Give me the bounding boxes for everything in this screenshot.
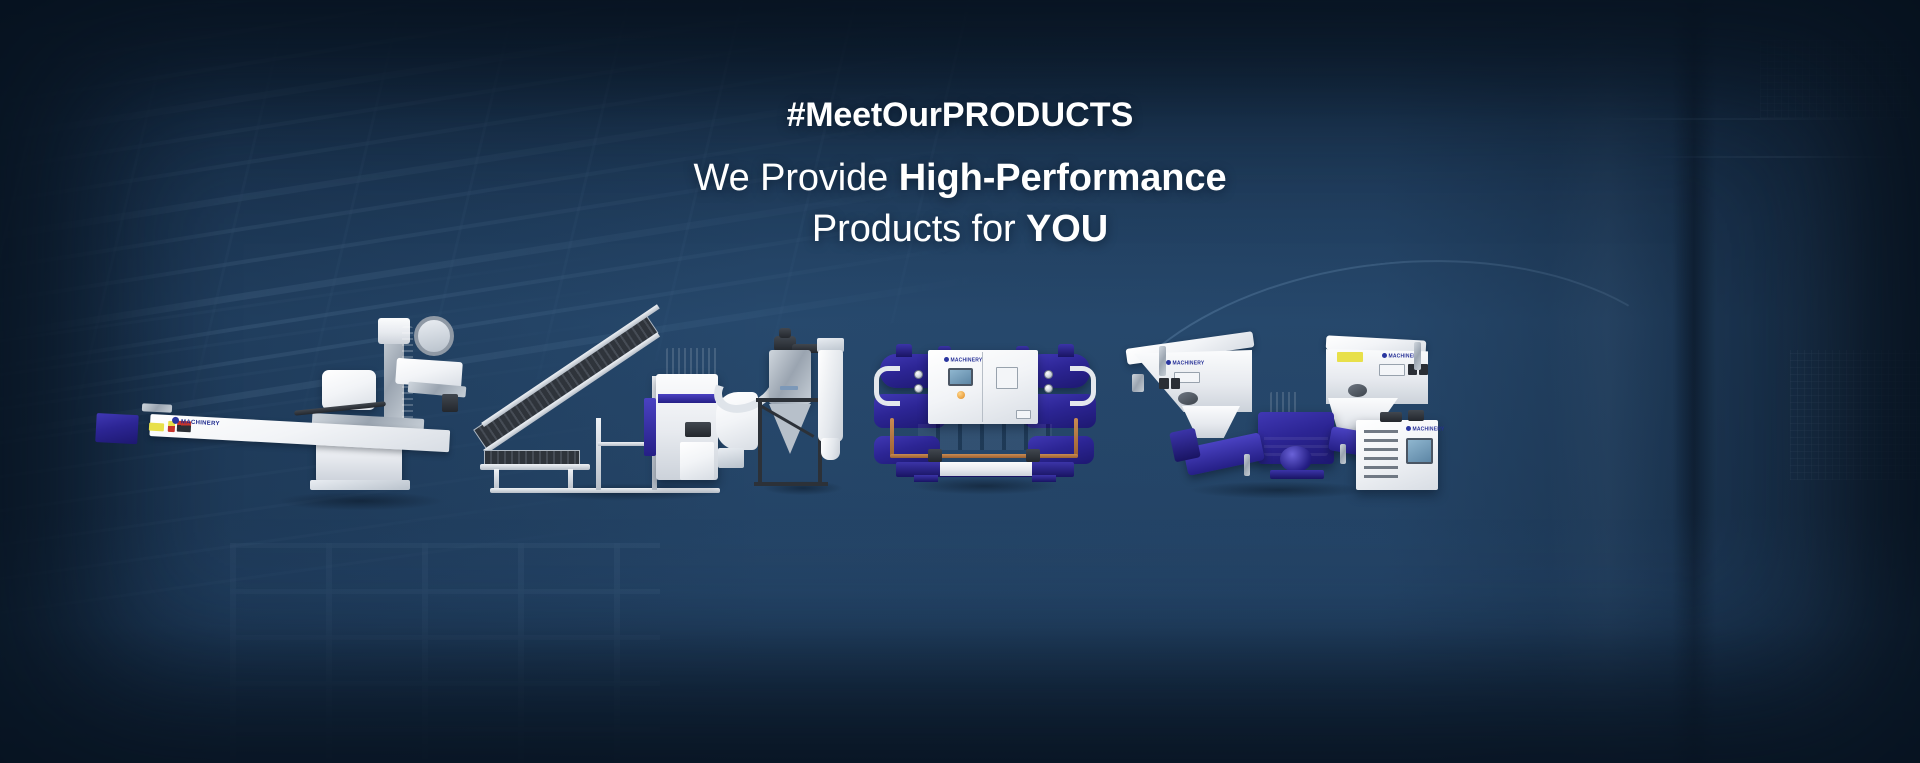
hopper-right-spec-plate <box>1379 364 1405 376</box>
chiller-flange-left <box>928 449 942 462</box>
hopper-left-brand-logo-text: MACHINERY <box>1173 361 1205 367</box>
robot-warning-label-yellow <box>149 423 164 432</box>
conveyor-support-post-1 <box>596 418 601 490</box>
brand-mark-icon <box>1166 360 1171 365</box>
cabinet-brand-logo-text: MACHINERY <box>1413 427 1445 433</box>
conveyor-incline-belt <box>473 314 658 449</box>
conveyor-base-rail <box>490 488 720 493</box>
robot-beam-end-cap <box>95 413 139 444</box>
filter-bag <box>818 350 843 442</box>
subheading-line-2-bold: YOU <box>1026 208 1108 250</box>
chiller-drip-tray <box>940 462 1032 476</box>
hopper-left-badge-1 <box>1159 378 1169 389</box>
robot-gripper <box>442 394 458 412</box>
hopper-left-bracket <box>1132 374 1144 392</box>
chiller-spec-plate <box>996 367 1018 389</box>
chiller-serial-plate <box>1016 410 1031 419</box>
subheading-line-2: Products for YOU <box>0 207 1920 252</box>
hopper-left-clamp <box>1159 346 1166 376</box>
pressure-gauge-left-1 <box>914 370 923 379</box>
pressure-gauge-right-1 <box>1044 370 1053 379</box>
crusher-blue-accent-panel <box>658 394 716 403</box>
crusher-control-display <box>685 422 711 437</box>
product-gravimetric-blender[interactable]: MACHINERY MACHINERY <box>1124 336 1444 494</box>
brand-mark-icon <box>1382 353 1387 358</box>
brand-mark-icon <box>172 417 179 424</box>
subheading-line-2-light: Products for <box>812 208 1026 250</box>
chiller-brand-logo: MACHINERY <box>944 357 982 364</box>
hopper-right-inspection-port <box>1348 384 1367 397</box>
chiller-compressor-cap-right <box>1058 344 1074 357</box>
filter-bag-bottom <box>821 438 840 460</box>
cabinet-ventilation-louvers <box>1364 430 1398 480</box>
blender-mixer-motor-dome <box>1280 446 1312 472</box>
cabinet-top-handle[interactable] <box>1380 412 1402 422</box>
crusher-blue-accent-left <box>644 398 656 456</box>
conveyor-incline-frame-lower <box>483 332 660 454</box>
cyclone-frame-leg-left <box>758 398 762 486</box>
conveyor-tail-belt <box>484 450 580 465</box>
chiller-hmi-touchscreen[interactable] <box>948 368 973 386</box>
cabinet-top-handle-2[interactable] <box>1408 410 1424 421</box>
page-subheading: We Provide High-Performance Products for… <box>0 156 1920 252</box>
hopper-right-clamp <box>1414 342 1421 370</box>
blender-hmi-touchscreen[interactable] <box>1406 438 1433 464</box>
copper-pipe-right-vertical <box>1074 418 1078 458</box>
chiller-indicator-light <box>957 391 965 399</box>
chiller-foot-right <box>1032 475 1056 482</box>
product-shadow <box>246 488 476 514</box>
copper-pipe-center <box>936 454 1032 458</box>
hero-copy: #MeetOurPRODUCTS We Provide High-Perform… <box>0 96 1920 252</box>
robot-head-gear <box>414 316 454 356</box>
hopper-right-warning-label <box>1337 352 1363 362</box>
hopper-left-brand-logo: MACHINERY <box>1166 360 1204 367</box>
cyclone-frame-bottom-rail <box>754 482 828 486</box>
robot-beam-fitting <box>142 403 172 413</box>
product-water-cooled-chiller[interactable]: MACHINERY <box>868 336 1100 488</box>
tagline-light-part: #MeetOur <box>787 96 942 134</box>
blender-hopper-left: MACHINERY <box>1124 336 1256 442</box>
cyclone-sight-glass <box>780 386 798 390</box>
pressure-gauge-left-2 <box>914 384 923 393</box>
subheading-line-1-bold: High-Performance <box>899 157 1227 199</box>
chiller-compressor-cap-left <box>896 344 912 357</box>
cyclone-motor <box>779 328 791 338</box>
conveyor-incline-frame-upper <box>481 304 660 427</box>
tagline-bold-part: PRODUCTS <box>942 96 1134 134</box>
brand-mark-icon <box>1406 426 1411 431</box>
blender-support-leg-left <box>1244 454 1250 476</box>
robot-base-plate <box>310 480 410 490</box>
cabinet-brand-logo: MACHINERY <box>1406 426 1444 433</box>
product-conveyor-crusher[interactable] <box>480 330 770 500</box>
blender-base-flange <box>1270 470 1324 479</box>
hero-banner: #MeetOurPRODUCTS We Provide High-Perform… <box>0 0 1920 763</box>
brand-mark-icon <box>944 357 949 362</box>
crusher-feed-hopper <box>666 348 718 378</box>
crusher-motor-box <box>680 442 714 480</box>
chiller-foot-left <box>914 475 938 482</box>
chiller-brand-logo-text: MACHINERY <box>951 358 983 364</box>
page-tagline: #MeetOurPRODUCTS <box>0 96 1920 135</box>
subheading-line-1-light: We Provide <box>694 157 899 199</box>
product-cyclone-separator[interactable] <box>748 330 858 500</box>
hopper-left-badge-2 <box>1171 378 1180 389</box>
chiller-pipe-left <box>874 366 900 406</box>
product-shadow <box>748 478 858 498</box>
chiller-pipe-right <box>1070 366 1096 406</box>
blender-support-leg-right <box>1340 444 1346 464</box>
chiller-flange-right <box>1026 449 1040 462</box>
hopper-left-inspection-port <box>1178 392 1198 405</box>
subheading-line-1: We Provide High-Performance <box>694 157 1227 199</box>
pressure-gauge-right-2 <box>1044 384 1053 393</box>
cyclone-cylinder <box>769 350 811 404</box>
cyclone-frame-top-rail <box>756 398 824 402</box>
product-robot-arm[interactable]: MACHINERY <box>96 400 466 500</box>
crusher-vent-grille <box>718 448 744 468</box>
copper-pipe-left-vertical <box>890 418 894 458</box>
